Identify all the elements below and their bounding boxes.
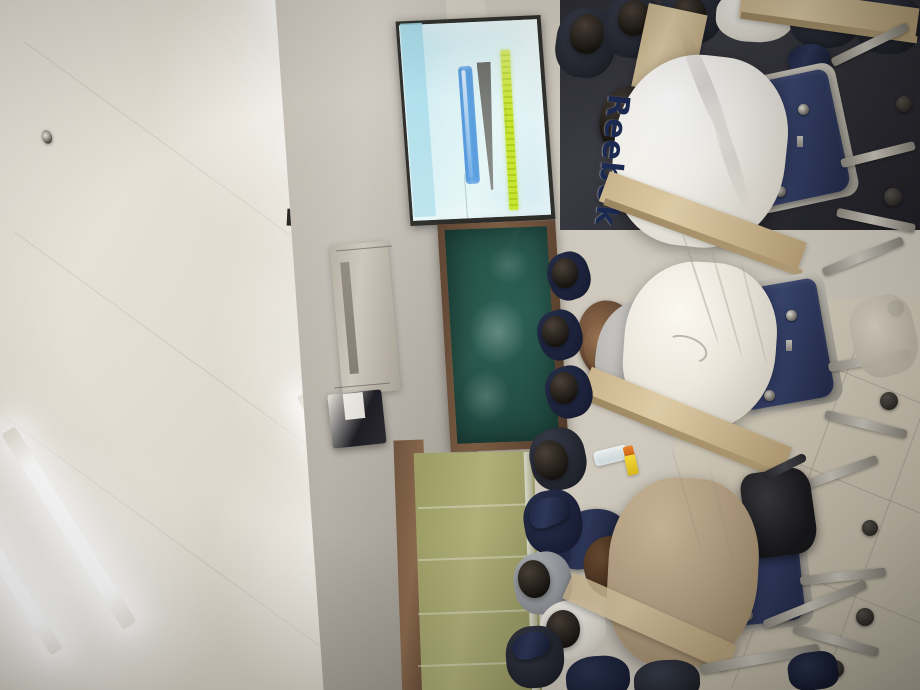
person-background — [633, 659, 700, 690]
person-background — [564, 654, 631, 690]
chair-rivet — [798, 104, 809, 115]
yellow-pouch — [624, 454, 639, 476]
chair-caster — [880, 392, 898, 410]
chair-leg — [821, 236, 904, 277]
chair-tag — [797, 136, 803, 147]
chair-rivet — [764, 390, 775, 401]
chair-tag — [786, 340, 792, 351]
chair-caster — [884, 188, 902, 206]
classroom-photo: 2 2 — [0, 0, 920, 690]
chair-caster — [856, 608, 874, 626]
person-head — [550, 372, 578, 404]
slide-subtitle — [444, 165, 461, 206]
person-head — [542, 316, 569, 347]
projector-label — [343, 392, 366, 420]
chair-caster — [896, 96, 912, 112]
chair-caster — [862, 520, 878, 536]
person-head — [552, 258, 578, 288]
chair-rivet — [786, 310, 797, 321]
